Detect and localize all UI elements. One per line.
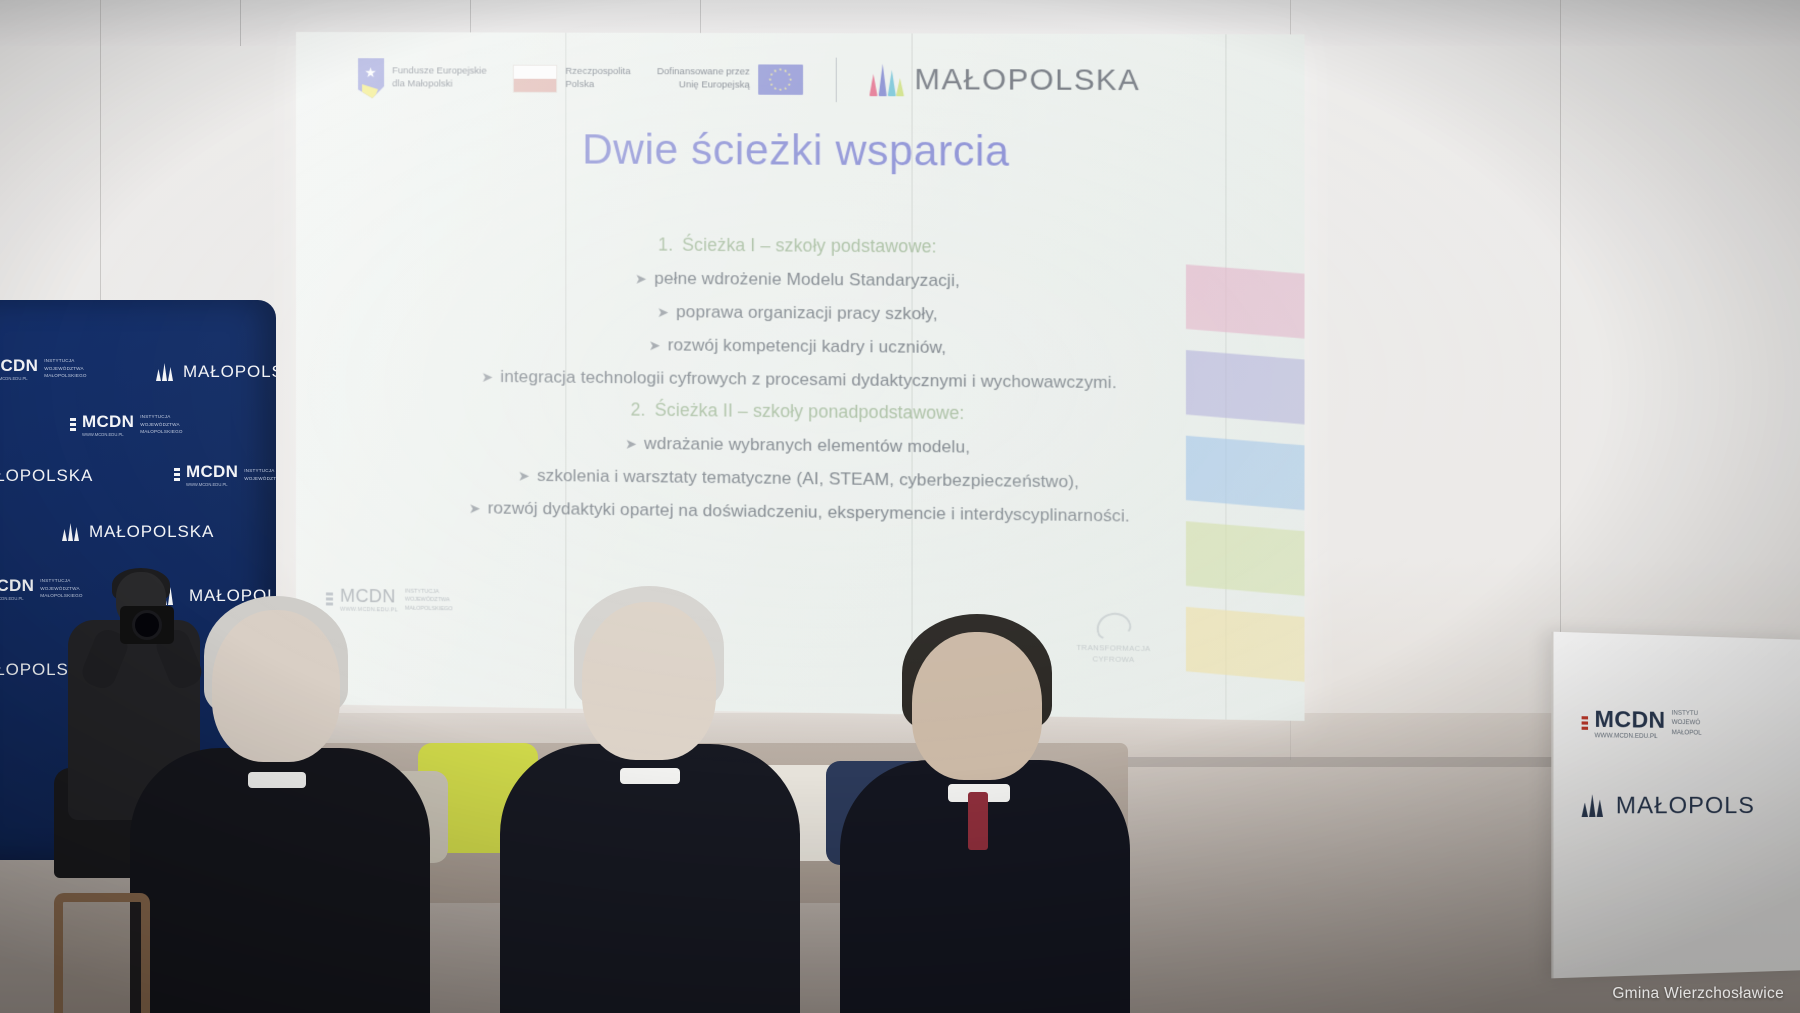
rollup-malopolska-logo: MAŁOPOLS bbox=[1582, 791, 1755, 819]
bullet-text: wdrażanie wybranych elementów modelu, bbox=[644, 433, 970, 456]
bullet-text: pełne wdrożenie Modelu Standaryzacji, bbox=[654, 269, 960, 291]
path-1-heading-text: Ścieżka I – szkoły podstawowe: bbox=[682, 235, 936, 257]
attendee-right bbox=[840, 614, 1130, 1013]
projected-slide: Fundusze Europejskie dla Małopolski Rzec… bbox=[296, 32, 1305, 721]
eu-line-1: Dofinansowane przez bbox=[657, 66, 750, 79]
star-icon bbox=[774, 87, 777, 90]
mcdn-subtitle: INSTYTU WOJEWÓ MAŁOPOL bbox=[1672, 709, 1702, 739]
mcdn-url: WWW.MCDN.EDU.PL bbox=[0, 376, 38, 381]
star-icon bbox=[770, 83, 773, 86]
mcdn-url: WWW.MCDN.EDU.PL bbox=[0, 596, 34, 601]
poland-flag-icon bbox=[513, 65, 557, 93]
star-icon bbox=[788, 83, 791, 86]
malopolska-mark-icon bbox=[1582, 794, 1608, 817]
malopolska-mark-icon bbox=[156, 363, 176, 381]
star-icon bbox=[770, 73, 773, 76]
funds-line-1: Fundusze Europejskie bbox=[392, 65, 487, 78]
backdrop-mcdn-logo: MCDN WWW.MCDN.EDU.PL INSTYTUCJA WOJEWÓDZ… bbox=[70, 412, 183, 437]
mcdn-wordmark: MCDN bbox=[82, 412, 134, 432]
eu-flag-icon bbox=[758, 64, 803, 94]
mcdn-url: WWW.MCDN.EDU.PL bbox=[186, 482, 238, 487]
bullet-text: rozwój dydaktyki opartej na doświadczeni… bbox=[488, 498, 1130, 525]
attendee-center bbox=[500, 586, 800, 1013]
mcdn-wordmark: MCDN bbox=[0, 356, 38, 376]
backdrop-malopolska-logo: MAŁOPOLSKA bbox=[0, 466, 93, 486]
rollup-mcdn-logo: MCDN WWW.MCDN.EDU.PL INSTYTU WOJEWÓ MAŁO… bbox=[1582, 706, 1702, 741]
mcdn-sub-1: INSTYTU bbox=[1672, 709, 1702, 719]
star-icon bbox=[769, 78, 772, 81]
bullet-text: poprawa organizacji pracy szkoły, bbox=[676, 302, 938, 323]
mcdn-sub-2: WOJEWÓDZTWA bbox=[244, 475, 276, 482]
bullet-text: integracja technologii cyfrowych z proce… bbox=[500, 367, 1116, 392]
slide-chevron-decoration bbox=[1186, 264, 1305, 694]
malopolska-wordmark: MAŁOPOLSKA bbox=[914, 63, 1140, 98]
star-icon bbox=[784, 69, 787, 72]
attendee-head bbox=[212, 610, 340, 762]
backdrop-malopolska-logo: MAŁOPOLSKA bbox=[62, 522, 214, 542]
chevron-right-icon: ➤ bbox=[657, 304, 669, 320]
malopolska-mark-icon bbox=[62, 523, 82, 541]
malopolska-wordmark: MAŁOPOLS bbox=[1616, 792, 1755, 820]
attendee-collar bbox=[620, 768, 680, 784]
slide-title: Dwie ścieżki wsparcia bbox=[296, 124, 1305, 177]
chevron-shape bbox=[1186, 436, 1305, 511]
eu-line-2: Unię Europejską bbox=[657, 79, 750, 92]
eu-funding-logo: Dofinansowane przez Unię Europejską bbox=[657, 64, 803, 95]
republic-line-1: Rzeczpospolita bbox=[565, 66, 630, 79]
mcdn-sub-3: MAŁOPOLSKIEGO bbox=[44, 372, 86, 379]
logo-divider bbox=[836, 58, 837, 103]
mcdn-sub-3: MAŁOPOL bbox=[1672, 729, 1702, 739]
star-icon bbox=[784, 87, 787, 90]
star-icon bbox=[789, 78, 792, 81]
chevron-shape bbox=[1186, 264, 1305, 338]
path-1-heading: 1.Ścieżka I – szkoły podstawowe: bbox=[314, 232, 1290, 260]
chevron-shape bbox=[1186, 521, 1305, 596]
european-funds-logo: Fundusze Europejskie dla Małopolski bbox=[358, 58, 487, 99]
mcdn-rollup-banner: MCDN WWW.MCDN.EDU.PL INSTYTU WOJEWÓ MAŁO… bbox=[1551, 632, 1800, 979]
backdrop-malopolska-logo: MAŁOPOLSKA bbox=[156, 362, 276, 382]
ceiling-panel-line bbox=[240, 0, 241, 46]
mcdn-sub-1: INSTYTUCJA bbox=[44, 357, 86, 364]
mcdn-subtitle: INSTYTUCJA WOJEWÓDZTWA MAŁOPOLSKIEGO bbox=[44, 357, 86, 379]
mcdn-sub-1: INSTYTUCJA bbox=[140, 413, 182, 420]
malopolska-wordmark: MAŁOPOLSKA bbox=[183, 362, 276, 382]
backdrop-mcdn-logo: MCDN WWW.MCDN.EDU.PL INSTYTUCJA WOJEWÓDZ… bbox=[0, 356, 87, 381]
star-icon bbox=[779, 88, 782, 91]
slide-body: 1.Ścieżka I – szkoły podstawowe: ➤pełne … bbox=[314, 228, 1290, 535]
backdrop-mcdn-logo: MCDN WWW.MCDN.EDU.PL INSTYTUCJA WOJEWÓDZ… bbox=[174, 462, 276, 487]
mcdn-sub-1: INSTYTUCJA bbox=[244, 467, 276, 474]
conference-room-photo: Fundusze Europejskie dla Małopolski Rzec… bbox=[0, 0, 1800, 1013]
republic-line-2: Polska bbox=[565, 79, 630, 92]
mcdn-wordmark: MCDN bbox=[1594, 706, 1665, 734]
bullet-text: rozwój kompetencji kadry i uczniów, bbox=[668, 336, 947, 358]
eu-funding-label: Dofinansowane przez Unię Europejską bbox=[657, 66, 750, 92]
mcdn-wordmark: MCDN bbox=[0, 576, 34, 596]
path-1-index: 1. bbox=[658, 234, 673, 254]
bullet-text: szkolenia i warsztaty tematyczne (AI, ST… bbox=[537, 466, 1079, 492]
star-icon bbox=[774, 69, 777, 72]
funds-line-2: dla Małopolski bbox=[392, 78, 487, 91]
chevron-shape bbox=[1186, 607, 1305, 682]
chevron-shape bbox=[1186, 350, 1305, 425]
mcdn-wordmark: MCDN bbox=[186, 462, 238, 482]
mcdn-sub-2: WOJEWÓDZTWA bbox=[44, 365, 86, 372]
malopolska-mark-icon bbox=[869, 64, 904, 97]
path-2-index: 2. bbox=[631, 399, 646, 419]
mcdn-url: WWW.MCDN.EDU.PL bbox=[1594, 733, 1665, 740]
chevron-right-icon: ➤ bbox=[518, 467, 530, 483]
mcdn-bars-icon bbox=[70, 418, 76, 431]
european-funds-label: Fundusze Europejskie dla Małopolski bbox=[392, 65, 487, 91]
mcdn-bars-icon bbox=[1582, 716, 1588, 730]
path-2-heading: 2.Ścieżka II – szkoły ponadpodstawowe: bbox=[314, 396, 1290, 427]
malopolska-wordmark: MAŁOPOLSKA bbox=[89, 522, 214, 542]
chevron-right-icon: ➤ bbox=[469, 500, 481, 516]
attendee-head bbox=[582, 602, 716, 760]
star-icon bbox=[779, 68, 782, 71]
star-icon bbox=[788, 73, 791, 76]
mcdn-bars-icon bbox=[174, 468, 180, 481]
malopolska-logo: MAŁOPOLSKA bbox=[869, 63, 1140, 98]
chevron-right-icon: ➤ bbox=[625, 435, 637, 451]
wooden-chair bbox=[14, 873, 194, 1013]
chair-backrest bbox=[54, 893, 150, 1013]
republic-of-poland-logo: Rzeczpospolita Polska bbox=[513, 65, 631, 94]
slide-header-logos: Fundusze Europejskie dla Małopolski Rzec… bbox=[358, 56, 1140, 103]
european-funds-icon bbox=[358, 58, 384, 98]
chevron-right-icon: ➤ bbox=[649, 337, 661, 353]
attendee-head bbox=[912, 632, 1042, 780]
mcdn-subtitle: INSTYTUCJA WOJEWÓDZTWA MAŁOPOLSKIEGO bbox=[140, 413, 182, 435]
mcdn-subtitle: INSTYTUCJA WOJEWÓDZTWA bbox=[244, 467, 276, 482]
attendee-necktie bbox=[968, 792, 988, 850]
attendee-shoulders bbox=[500, 744, 800, 1013]
republic-label: Rzeczpospolita Polska bbox=[565, 66, 630, 92]
mcdn-sub-2: WOJEWÓ bbox=[1672, 719, 1702, 729]
mcdn-sub-3: MAŁOPOLSKIEGO bbox=[140, 428, 182, 435]
malopolska-wordmark: MAŁOPOLSKA bbox=[0, 466, 93, 486]
path-2-heading-text: Ścieżka II – szkoły ponadpodstawowe: bbox=[655, 399, 965, 422]
watermark: Gmina Wierzchosławice bbox=[1612, 985, 1784, 1003]
attendee-collar bbox=[248, 772, 306, 788]
mcdn-sub-2: WOJEWÓDZTWA bbox=[140, 421, 182, 428]
star-icon bbox=[365, 67, 376, 78]
chevron-right-icon: ➤ bbox=[481, 369, 493, 385]
mcdn-url: WWW.MCDN.EDU.PL bbox=[82, 432, 134, 437]
chevron-right-icon: ➤ bbox=[635, 271, 647, 287]
